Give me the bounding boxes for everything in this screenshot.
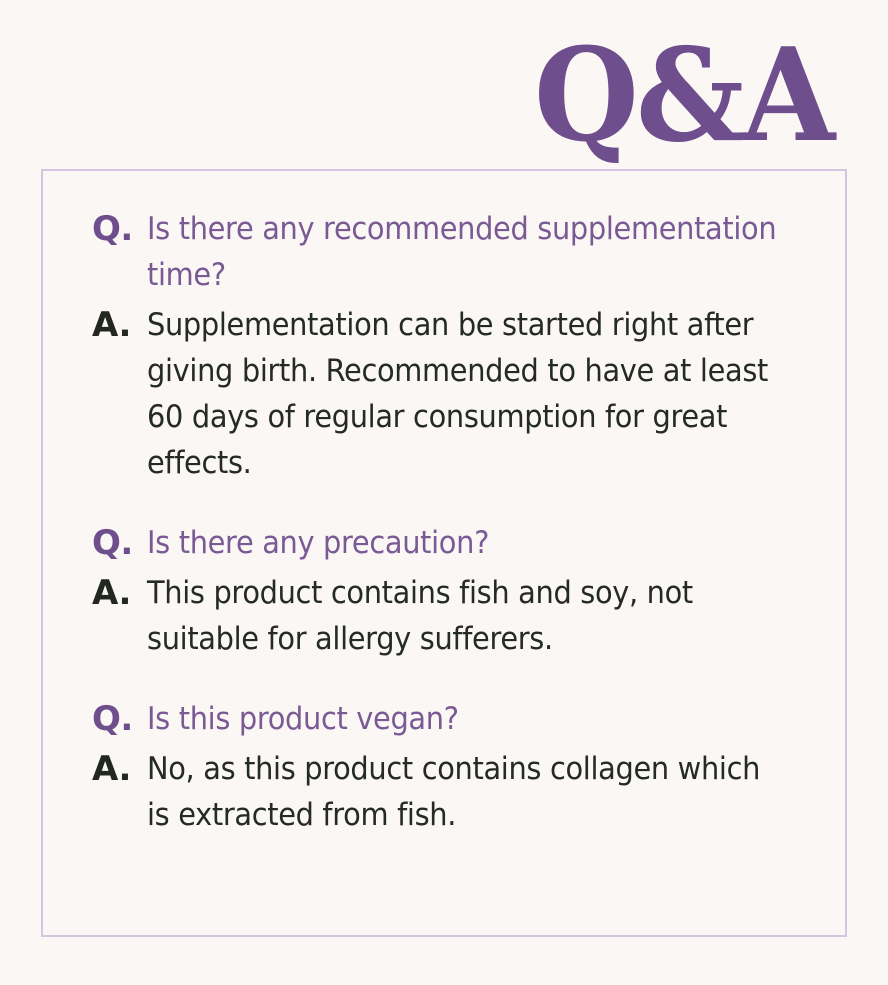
qa-frame: Q. Is there any recommended supplementat… <box>41 169 847 937</box>
answer-text: No, as this product contains collagen wh… <box>147 746 784 838</box>
question-row: Q. Is there any precaution? <box>92 520 832 566</box>
question-text: Is this product vegan? <box>147 696 784 742</box>
answer-marker: A. <box>92 570 147 616</box>
qa-page: Q&A Q. Is there any recommended suppleme… <box>0 0 888 985</box>
qa-block: Q. Is this product vegan? A. No, as this… <box>92 696 832 838</box>
title-row: Q&A <box>0 36 888 166</box>
answer-marker: A. <box>92 746 147 792</box>
question-row: Q. Is there any recommended supplementat… <box>92 206 832 298</box>
question-marker: Q. <box>92 696 147 742</box>
question-marker: Q. <box>92 206 147 252</box>
answer-row: A. Supplementation can be started right … <box>92 302 832 486</box>
answer-text: This product contains fish and soy, not … <box>147 570 784 662</box>
answer-row: A. No, as this product contains collagen… <box>92 746 832 838</box>
qa-list: Q. Is there any recommended supplementat… <box>92 206 832 838</box>
qa-block: Q. Is there any precaution? A. This prod… <box>92 520 832 662</box>
answer-marker: A. <box>92 302 147 348</box>
question-marker: Q. <box>92 520 147 566</box>
question-row: Q. Is this product vegan? <box>92 696 832 742</box>
question-text: Is there any precaution? <box>147 520 784 566</box>
page-title: Q&A <box>534 36 832 158</box>
question-text: Is there any recommended supplementation… <box>147 206 784 298</box>
answer-text: Supplementation can be started right aft… <box>147 302 784 486</box>
qa-block: Q. Is there any recommended supplementat… <box>92 206 832 486</box>
answer-row: A. This product contains fish and soy, n… <box>92 570 832 662</box>
